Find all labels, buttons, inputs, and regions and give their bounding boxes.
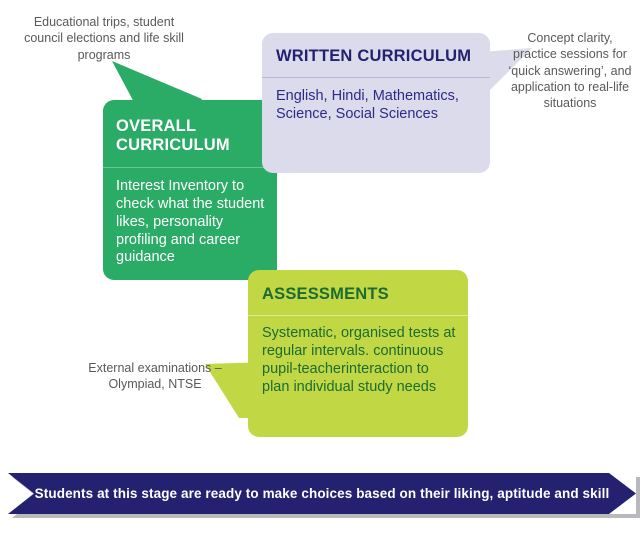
annotation-external-examinations: External examinations – Olympiad, NTSE [74,360,236,393]
card-written-curriculum[interactable]: WRITTEN CURRICULUM English, Hindi, Mathe… [262,33,490,173]
card-overall-curriculum[interactable]: OVERALL CURRICULUM Interest Inventory to… [103,100,277,280]
card-body-assessments: Systematic, organised tests at regular i… [248,316,468,397]
banner-text: Students at this stage are ready to make… [8,473,636,514]
card-title-written-curriculum: WRITTEN CURRICULUM [262,33,490,66]
card-body-written-curriculum: English, Hindi, Mathematics, Science, So… [262,78,490,124]
diagram-canvas: Educational trips, student council elect… [0,0,644,538]
annotation-educational-trips: Educational trips, student council elect… [22,14,186,63]
annotation-concept-clarity: Concept clarity, practice sessions for ‘… [504,30,636,111]
card-title-assessments: ASSESSMENTS [248,270,468,304]
card-assessments[interactable]: ASSESSMENTS Systematic, organised tests … [248,270,468,437]
bottom-banner: Students at this stage are ready to make… [8,473,636,514]
card-body-overall-curriculum: Interest Inventory to check what the stu… [103,168,277,268]
card-title-overall-curriculum: OVERALL CURRICULUM [103,100,277,155]
